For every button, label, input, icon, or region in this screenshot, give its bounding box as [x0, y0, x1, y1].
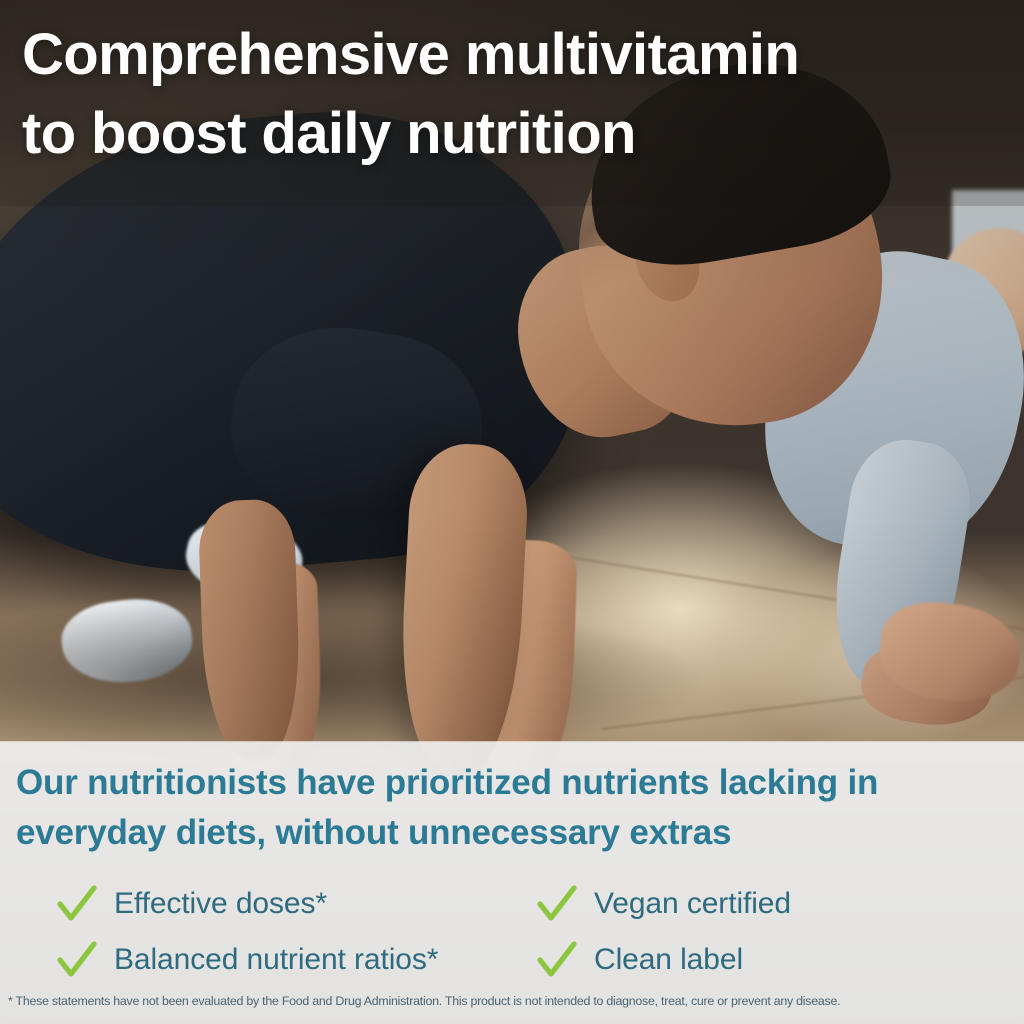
panel-heading-line-1: Our nutritionists have prioritized nutri… [16, 758, 1012, 808]
panel-heading-line-2: everyday diets, without unnecessary extr… [16, 808, 1012, 858]
benefit-label: Clean label [594, 945, 743, 975]
benefit-item-effective-doses: Effective doses* [0, 883, 520, 925]
benefits-grid: Effective doses* Vegan certified Balance… [0, 876, 1024, 988]
check-icon [536, 883, 578, 925]
benefit-label: Balanced nutrient ratios* [114, 945, 438, 975]
check-icon [56, 883, 98, 925]
product-promo-card: Comprehensive multivitamin to boost dail… [0, 0, 1024, 1024]
benefit-label: Effective doses* [114, 889, 327, 919]
check-icon [56, 939, 98, 981]
benefit-label: Vegan certified [594, 889, 791, 919]
panel-heading: Our nutritionists have prioritized nutri… [16, 758, 1012, 857]
benefit-item-balanced-nutrient-ratios: Balanced nutrient ratios* [0, 939, 520, 981]
hero-headline: Comprehensive multivitamin to boost dail… [22, 16, 982, 174]
benefit-item-clean-label: Clean label [520, 939, 1024, 981]
benefit-item-vegan-certified: Vegan certified [520, 883, 1024, 925]
check-icon [536, 939, 578, 981]
hero-headline-line-2: to boost daily nutrition [22, 95, 982, 174]
info-panel: Our nutritionists have prioritized nutri… [0, 742, 1024, 1024]
fda-disclaimer: * These statements have not been evaluat… [8, 994, 1016, 1010]
hero-headline-line-1: Comprehensive multivitamin [22, 16, 982, 95]
